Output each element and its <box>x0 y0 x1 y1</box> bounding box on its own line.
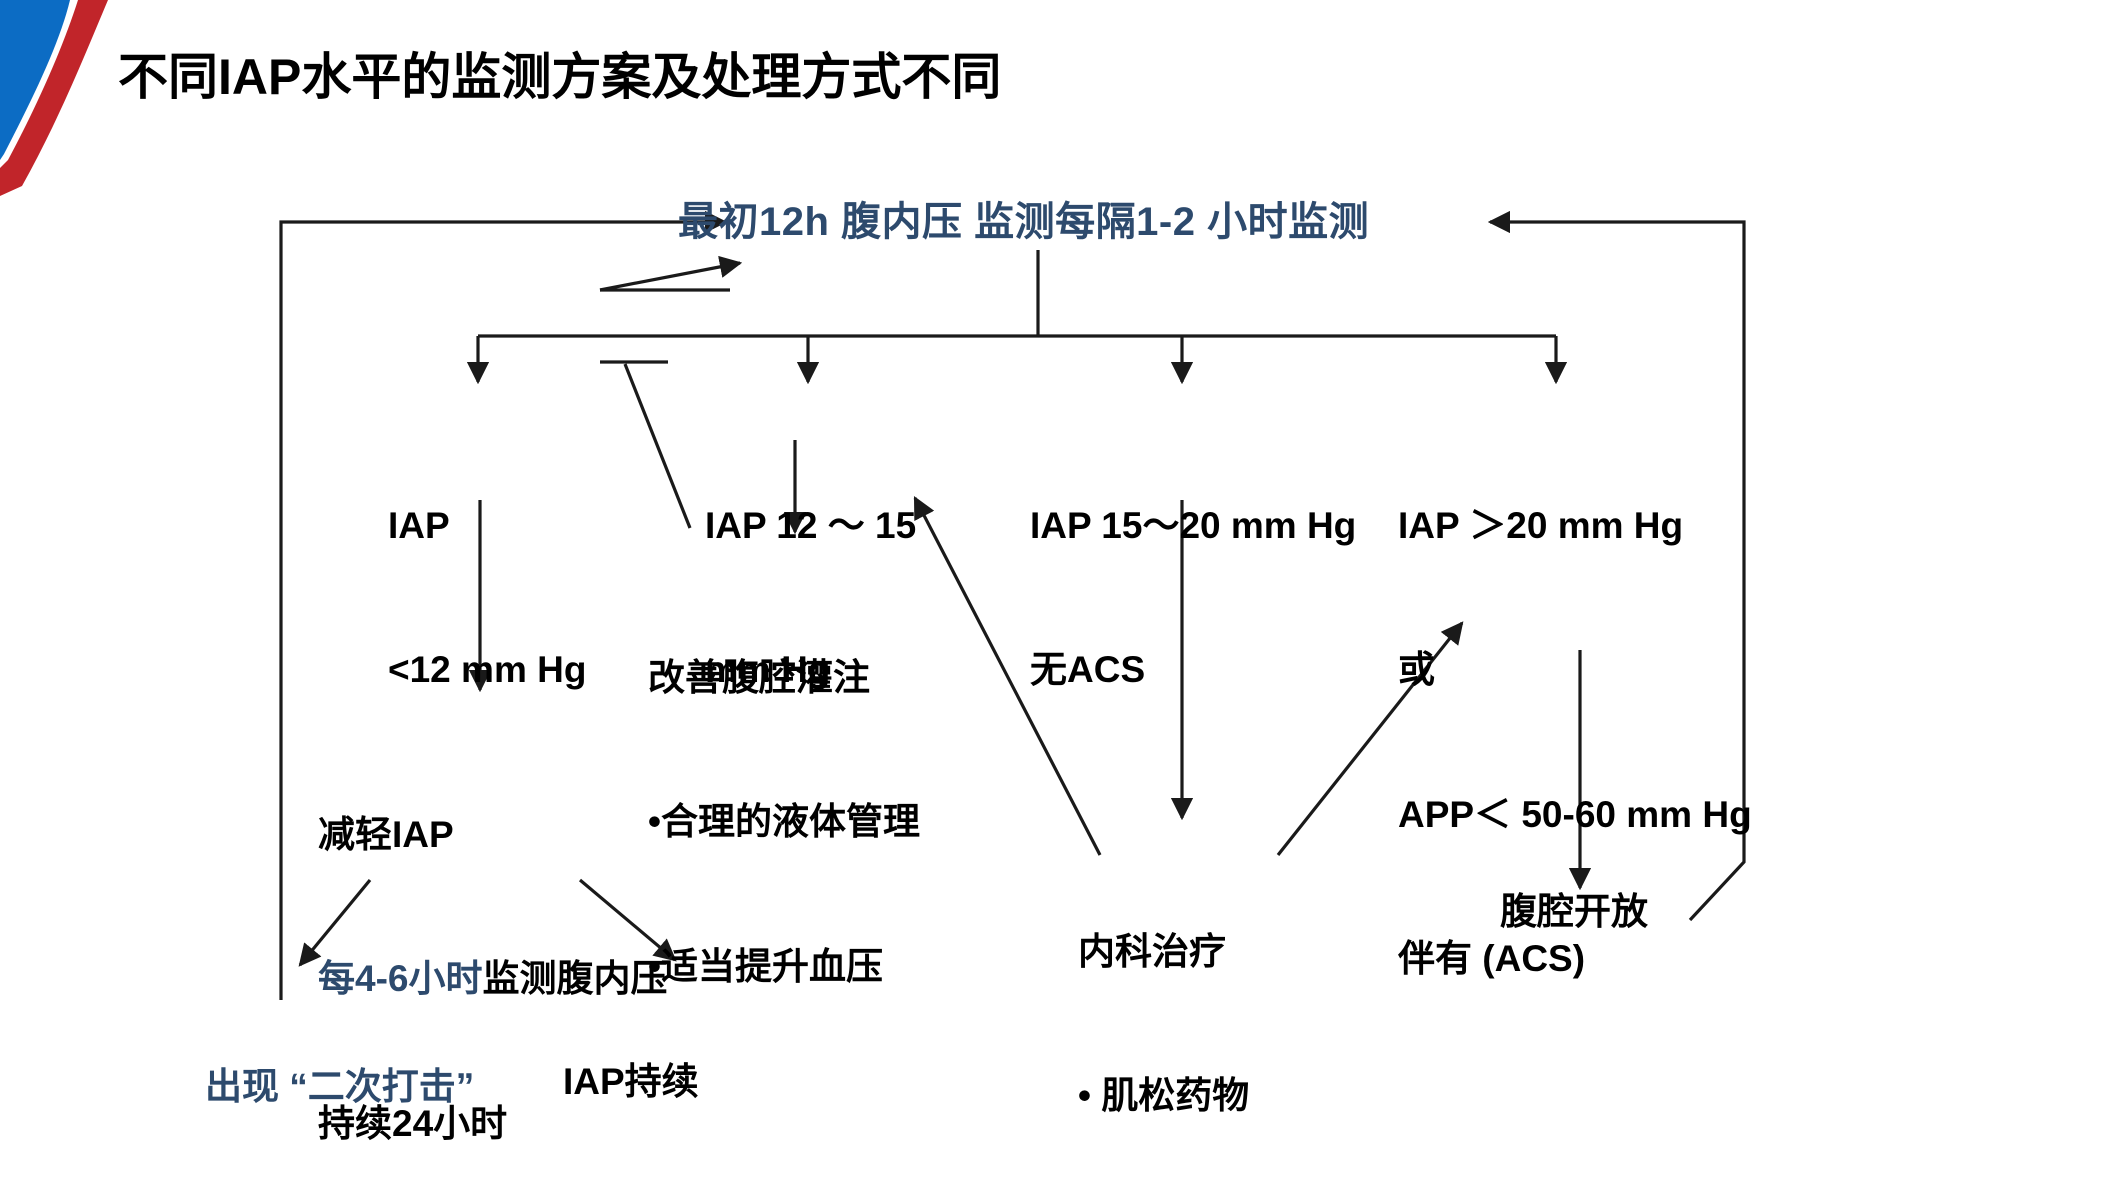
second-hit-line1: 出现 “二次打击” <box>205 1063 501 1111</box>
white-separator-shape <box>0 0 78 168</box>
iap-low-line2: <12 mm Hg <box>388 646 586 694</box>
page-title: 不同IAP水平的监测方案及处理方式不同 <box>118 51 1001 104</box>
flow-node-header[interactable]: 最初12h 腹内压 监测每隔1-2 小时监测 <box>678 196 1369 248</box>
iap-sustained-line1: IAP持续 <box>563 1058 859 1106</box>
iap-low-line1: IAP <box>388 502 586 550</box>
slide-canvas: 不同IAP水平的监测方案及处理方式不同 <box>0 0 2120 1200</box>
perfusion-heading: 改善腹腔灌注 <box>648 654 920 702</box>
iap-gt20-line4: 伴有 (ACS) <box>1398 935 1752 983</box>
red-swoosh-shape <box>0 0 108 196</box>
flow-node-iap-15-20[interactable]: IAP 15～20 mm Hg 无ACS <box>1030 406 1356 791</box>
blue-swoosh-shape <box>0 0 70 160</box>
reentry-diagonal-arrow <box>600 263 740 290</box>
iap-15-20-line1: IAP 15～20 mm Hg <box>1030 502 1356 550</box>
flow-node-open-abdomen[interactable]: 腹腔开放 <box>1500 888 1648 936</box>
medical-item-1: • 肌松药物 <box>1078 1072 1402 1120</box>
flow-node-iap-sustained[interactable]: IAP持续 <12 mm Hg 可减少腹内压测量 <box>563 962 859 1200</box>
flow-node-medical-therapy[interactable]: 内科治疗 • 肌松药物 • 穿刺引流 •其它 － 胃肠减压, 泻药 － 灌肠 －… <box>1078 832 1402 1200</box>
flow-node-second-hit[interactable]: 出现 “二次打击” 加强腹内压力监测 <box>205 967 501 1200</box>
iap-gt20-line1: IAP ＞20 mm Hg <box>1398 502 1752 550</box>
flow-node-iap-gt-20[interactable]: IAP ＞20 mm Hg 或 APP＜ 50-60 mm Hg 伴有 (ACS… <box>1398 406 1752 1079</box>
perfusion-item-1: •合理的液体管理 <box>648 798 920 846</box>
iap-12-15-line1: IAP 12 ～ 15 <box>705 502 916 550</box>
reduce-iap-line1: 减轻IAP <box>318 811 667 859</box>
reentry-stub-tick <box>640 266 740 288</box>
perfusion-diagonal <box>625 364 690 528</box>
iap-15-20-line2: 无ACS <box>1030 646 1356 694</box>
iap-gt20-line3: APP＜ 50-60 mm Hg <box>1398 791 1752 839</box>
slide-title-bar: 不同IAP水平的监测方案及处理方式不同 <box>118 42 1518 112</box>
medical-heading: 内科治疗 <box>1078 928 1402 976</box>
iap-gt20-line2: 或 <box>1398 646 1752 694</box>
